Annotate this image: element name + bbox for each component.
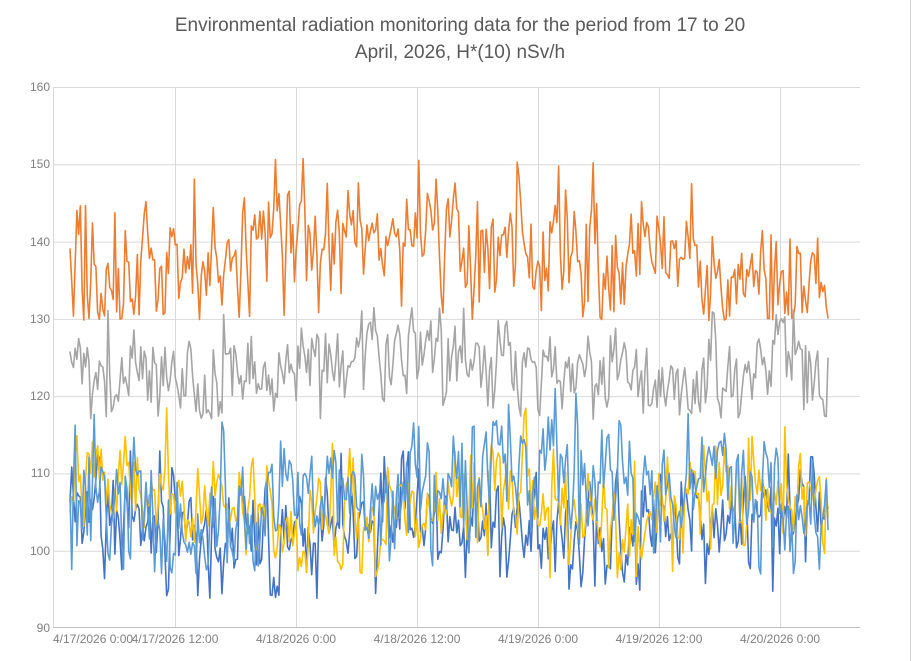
y-axis-tick-label: 120: [4, 390, 50, 402]
x-axis-tick-label: 4/18/2026 12:00: [374, 632, 461, 646]
series-line-4: [70, 408, 828, 578]
x-axis-tick-label: 4/17/2026 0:00: [53, 632, 133, 646]
x-axis-tick-label: 4/19/2026 0:00: [498, 632, 578, 646]
x-axis: 4/17/2026 0:004/17/2026 12:004/18/2026 0…: [0, 632, 911, 656]
y-axis: 16015014013012011010090: [0, 0, 50, 661]
x-axis-tick-label: 4/20/2026 0:00: [740, 632, 820, 646]
y-axis-tick-label: 100: [4, 545, 50, 557]
y-axis-tick-label: 110: [4, 467, 50, 479]
x-axis-tick-label: 4/17/2026 12:00: [132, 632, 219, 646]
x-axis-tick-label: 4/18/2026 0:00: [256, 632, 336, 646]
y-axis-tick-label: 130: [4, 313, 50, 325]
chart-title: Environmental radiation monitoring data …: [60, 12, 860, 66]
y-axis-tick-label: 150: [4, 158, 50, 170]
y-axis-tick-label: 160: [4, 81, 50, 93]
series-line-3: [70, 308, 828, 420]
series-line-2: [70, 159, 828, 321]
plot-area: [53, 87, 860, 628]
x-axis-tick-label: 4/19/2026 12:00: [616, 632, 703, 646]
chart-container: Environmental radiation monitoring data …: [0, 0, 911, 661]
chart-plot-svg: [53, 87, 860, 628]
y-axis-tick-label: 140: [4, 236, 50, 248]
